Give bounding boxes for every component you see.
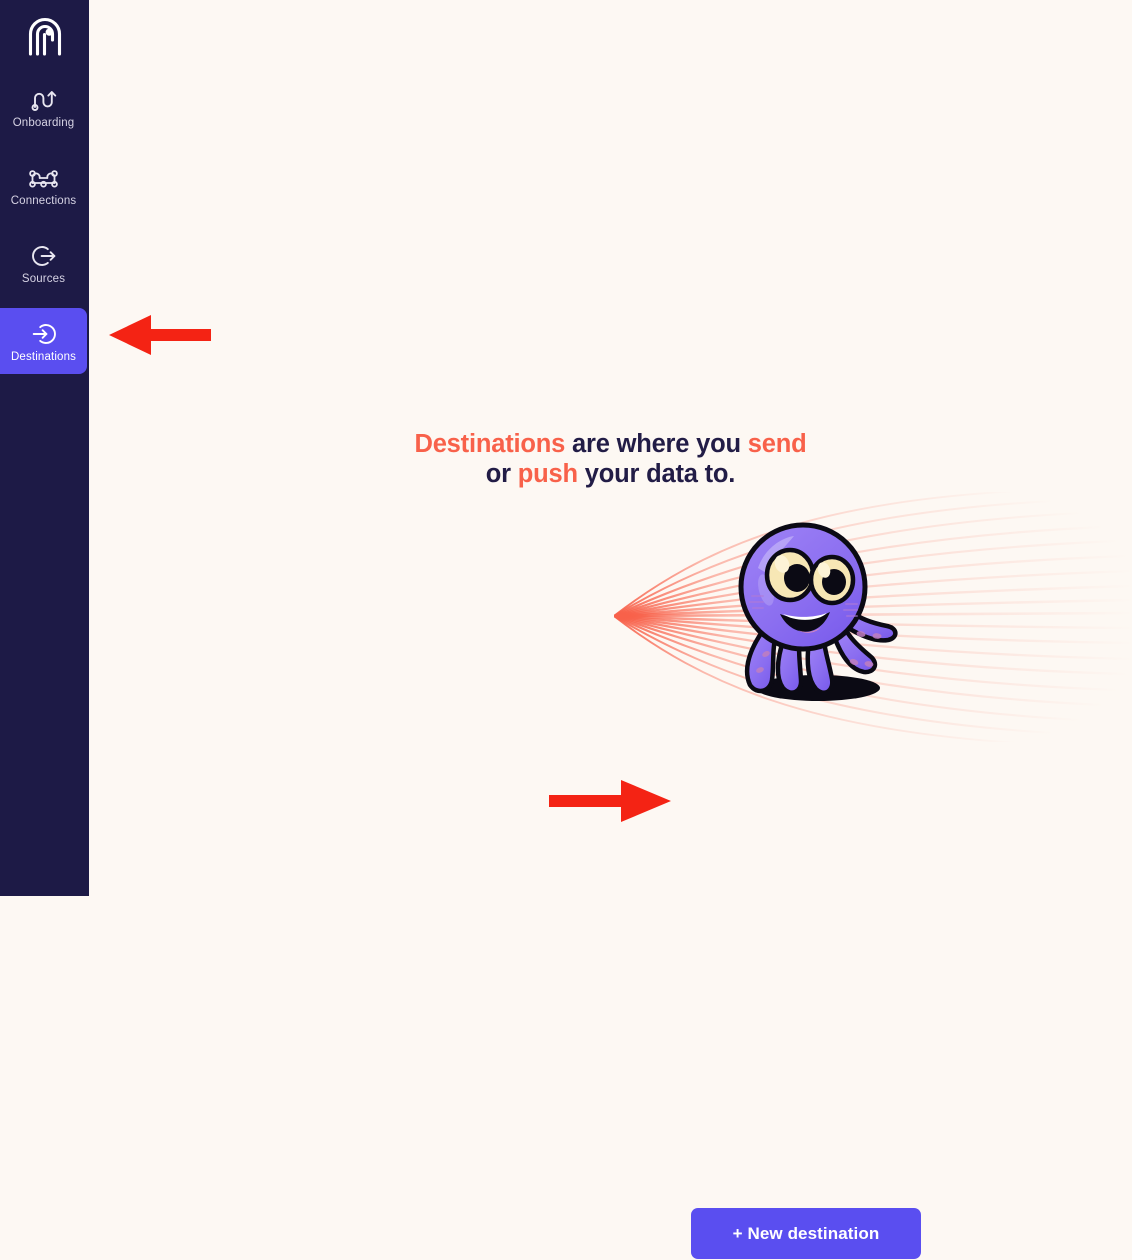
- main-content: Destinations are where you sendor push y…: [89, 0, 1132, 896]
- node-graph-icon: [28, 163, 59, 193]
- sidebar-item-label: Destinations: [11, 352, 76, 364]
- headline-mid1: are where you: [565, 430, 748, 458]
- app-logo[interactable]: [0, 0, 89, 74]
- sidebar-item-label: Onboarding: [13, 118, 75, 130]
- destinations-empty-state: Destinations are where you sendor push y…: [89, 430, 1132, 732]
- route-arrow-icon: [30, 85, 57, 115]
- sidebar-item-destinations[interactable]: Destinations: [0, 308, 87, 374]
- page-headline: Destinations are where you sendor push y…: [414, 430, 806, 490]
- headline-push: push: [518, 460, 578, 488]
- octopus-mascot-icon: [714, 512, 914, 712]
- sidebar-item-onboarding[interactable]: Onboarding: [0, 74, 87, 140]
- circle-arrow-in-icon: [30, 319, 58, 349]
- rudderstack-logo-icon: [25, 13, 65, 62]
- cta-row: + New destination: [89, 1208, 1132, 1260]
- sidebar-item-connections[interactable]: Connections: [0, 152, 87, 218]
- headline-or: or: [486, 460, 518, 488]
- new-destination-button[interactable]: + New destination: [691, 1208, 921, 1259]
- headline-end: your data to.: [578, 460, 735, 488]
- sidebar-item-label: Connections: [11, 196, 77, 208]
- sidebar-item-sources[interactable]: Sources: [0, 230, 87, 296]
- circle-arrow-out-icon: [30, 241, 58, 271]
- headline-destinations: Destinations: [414, 430, 565, 458]
- sidebar-item-label: Sources: [22, 274, 65, 286]
- sidebar: Onboarding Connections: [0, 0, 89, 896]
- octopus-illustration: [89, 502, 1132, 732]
- headline-send: send: [748, 430, 807, 458]
